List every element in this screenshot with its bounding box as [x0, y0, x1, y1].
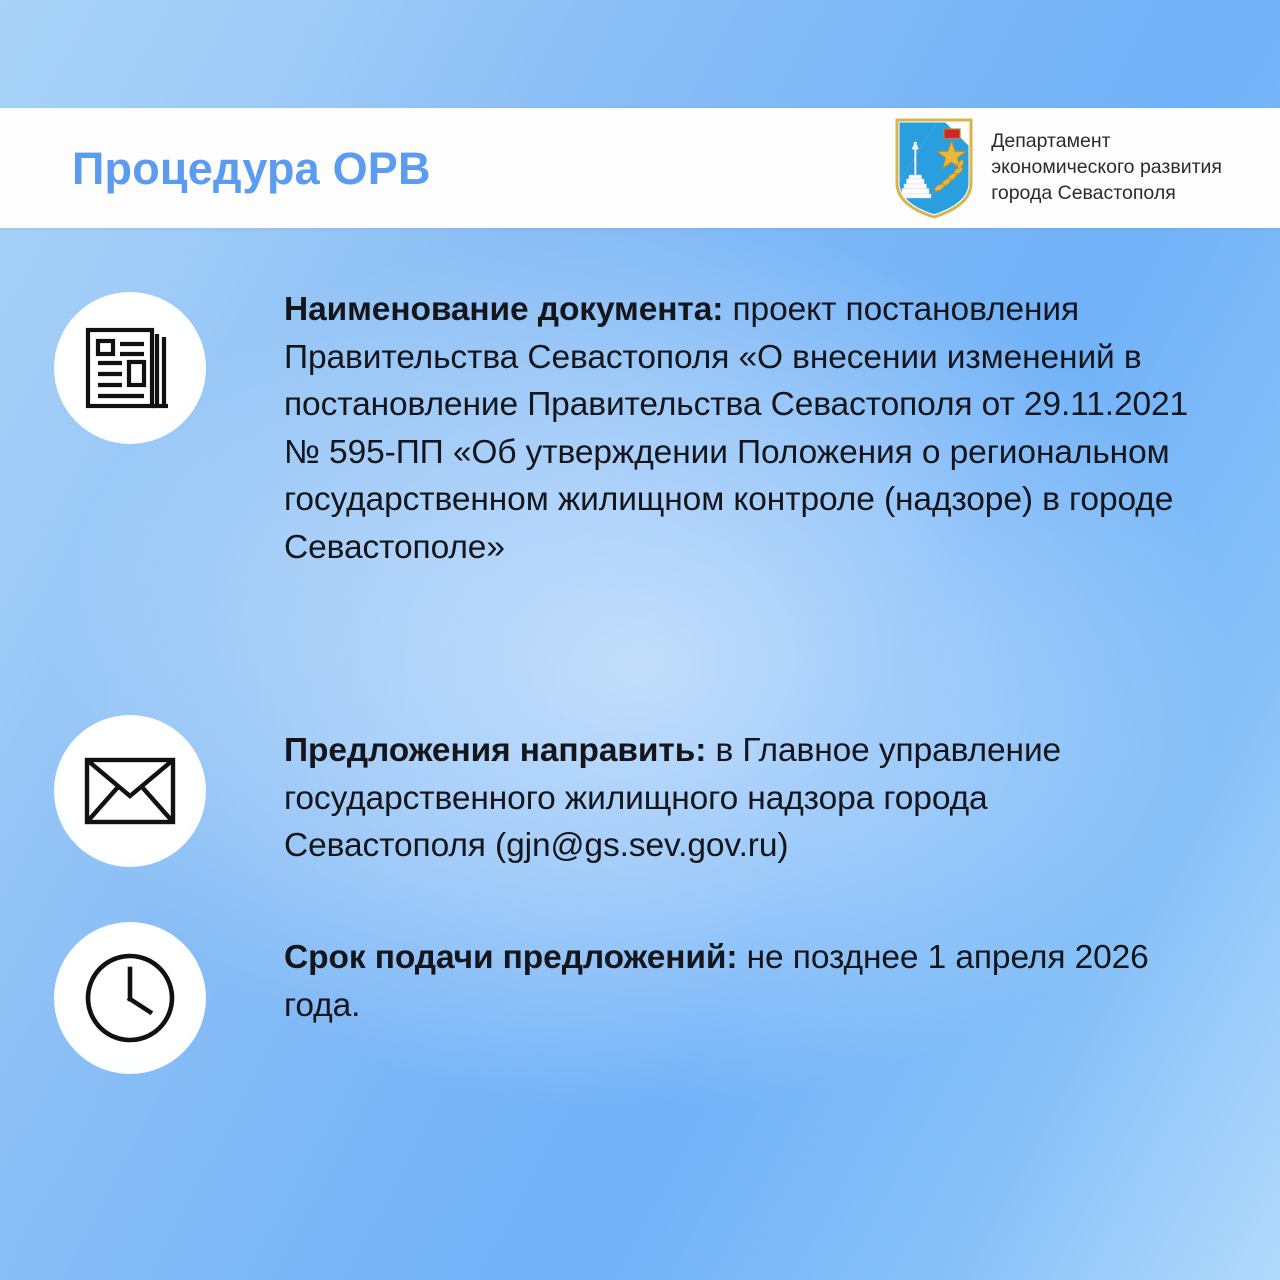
- poster-root: Процедура ОРВ: [0, 0, 1280, 1280]
- document-name-value: проект постановления Правительства Севас…: [284, 291, 1188, 566]
- logo-line-1: Департамент: [991, 129, 1222, 155]
- envelope-icon-badge: [54, 715, 206, 867]
- document-name-text: Наименование документа: проект постановл…: [284, 286, 1192, 571]
- envelope-icon: [84, 757, 176, 825]
- document-stack-icon: [84, 324, 176, 412]
- clock-icon-badge: [54, 922, 206, 1074]
- document-stack-icon-badge: [54, 292, 206, 444]
- header-bar: Процедура ОРВ: [0, 108, 1280, 228]
- info-block-send-proposals: Предложения направить: в Главное управле…: [0, 719, 1280, 870]
- page-title: Процедура ОРВ: [72, 146, 431, 191]
- logo-line-2: экономического развития: [991, 155, 1222, 181]
- department-logo: Департамент экономического развития горо…: [894, 117, 1222, 220]
- info-block-deadline: Срок подачи предложений: не позднее 1 ап…: [0, 932, 1280, 1074]
- department-logo-text: Департамент экономического развития горо…: [991, 129, 1222, 207]
- document-name-label: Наименование документа:: [284, 291, 723, 328]
- send-proposals-label: Предложения направить:: [284, 732, 706, 769]
- deadline-text: Срок подачи предложений: не позднее 1 ап…: [284, 934, 1192, 1029]
- sevastopol-coat-of-arms-icon: [894, 117, 974, 220]
- logo-line-3: города Севастополя: [991, 181, 1222, 207]
- clock-icon: [84, 952, 176, 1044]
- deadline-label: Срок подачи предложений:: [284, 939, 737, 976]
- send-proposals-text: Предложения направить: в Главное управле…: [284, 727, 1192, 870]
- info-block-document-name: Наименование документа: проект постановл…: [0, 286, 1280, 571]
